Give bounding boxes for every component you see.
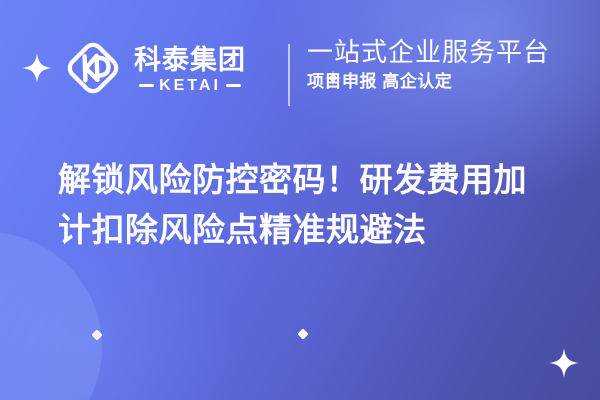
sparkle-icon (22, 53, 52, 88)
header-divider (288, 44, 290, 106)
banner-title: 解锁风险防控密码！研发费用加计扣除风险点精准规避法 (58, 155, 558, 255)
ketai-diamond-kd-logo-icon (62, 37, 124, 104)
decorative-circle-bottom-left (0, 232, 102, 400)
rule-right-icon (226, 84, 241, 87)
banner-header: 科泰集团 KETAI 一站式企业服务平台 项目申报 高企认定 (0, 0, 600, 140)
brand-name-cn: 科泰集团 (134, 46, 246, 74)
sparkle-icon (325, 70, 341, 91)
diamond-icon (91, 329, 102, 340)
promo-banner: 科泰集团 KETAI 一站式企业服务平台 项目申报 高企认定 解锁风险防控密码！… (0, 0, 600, 400)
tagline-block: 一站式企业服务平台 项目申报 高企认定 (307, 38, 550, 91)
tagline-main: 一站式企业服务平台 (307, 38, 550, 68)
brand-name-en: KETAI (159, 78, 221, 94)
brand-wordmark: 科泰集团 KETAI (134, 46, 246, 93)
tagline-sub: 项目申报 高企认定 (307, 72, 550, 92)
brand-name-en-row: KETAI (139, 78, 241, 94)
sparkle-icon (549, 348, 579, 383)
rule-left-icon (139, 84, 154, 87)
diamond-icon (297, 328, 308, 339)
brand-lockup: 科泰集团 KETAI (0, 37, 288, 104)
